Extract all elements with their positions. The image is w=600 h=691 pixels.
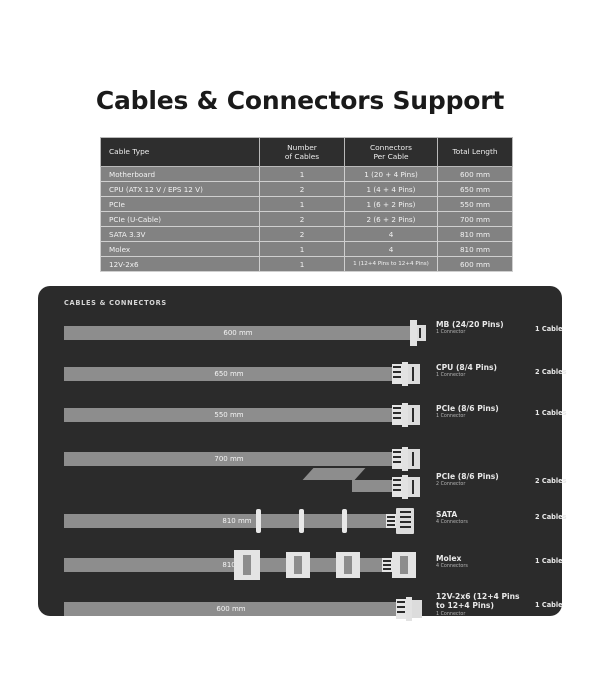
cell-total-length: 600 mm	[438, 257, 513, 272]
cables-connectors-diagram-panel: CABLES & CONNECTORS 600 mm MB (24/20 Pin…	[38, 286, 562, 616]
cell-number-of-cables: 2	[260, 212, 345, 227]
label-molex-name: Molex	[436, 554, 468, 563]
connector-molex-inline-1-slot	[243, 555, 251, 575]
connector-pcie-body	[408, 405, 420, 425]
connector-sata-end-pin-gap-3	[387, 524, 395, 526]
cable-bar-sata: 810 mm	[64, 514, 410, 528]
connector-12v2x6-pin-gap-2	[397, 606, 405, 608]
page-title: Cables & Connectors Support	[0, 0, 600, 113]
count-molex-cables: 1 Cable	[535, 557, 563, 565]
connector-sata-end-pin-gap-1	[387, 516, 395, 518]
cable-length-label: 700 mm	[64, 452, 394, 466]
label-molex: Molex 4 Connectors	[436, 554, 468, 569]
cable-length-label: 600 mm	[64, 326, 412, 340]
cell-cable-type: Motherboard	[101, 167, 260, 182]
table-header-row: Cable Type Number of Cables Connectors P…	[101, 138, 513, 167]
connector-12v2x6-pin-gap-1	[397, 601, 405, 603]
connector-cpu-pin-gap-3	[393, 376, 401, 378]
label-cpu-name: CPU (8/4 Pins)	[436, 363, 497, 372]
connector-sata-end-slot-4	[400, 526, 411, 528]
label-sata-connectors: 4 Connectors	[436, 520, 468, 525]
table-row: CPU (ATX 12 V / EPS 12 V) 2 1 (4 + 4 Pin…	[101, 182, 513, 197]
label-pcie-ucable-connectors: 2 Connector	[436, 482, 499, 487]
cell-cable-type: PCIe (U-Cable)	[101, 212, 260, 227]
connector-sata-end-slot-2	[400, 516, 411, 518]
column-header-connectors-per-cable: Connectors Per Cable	[345, 138, 438, 167]
connector-molex-end-pin-gap-1	[383, 560, 391, 562]
column-header-total-length-line1: Total Length	[452, 147, 497, 156]
connector-cpu-notch	[412, 367, 414, 381]
connector-sata-end-pin-gap-2	[387, 520, 395, 522]
connector-molex-inline-1	[234, 550, 260, 580]
cable-bar-pcie: 550 mm	[64, 408, 394, 422]
cable-length-label: 810 mm	[64, 514, 410, 528]
connector-pcie-u2-body	[408, 477, 420, 497]
cell-number-of-cables: 1	[260, 197, 345, 212]
label-cpu: CPU (8/4 Pins) 1 Connector	[436, 363, 497, 378]
column-header-number-line1: Number	[287, 143, 317, 152]
cell-number-of-cables: 1	[260, 242, 345, 257]
connector-pcie-u2-pin-gap-3	[393, 489, 401, 491]
column-header-connectors-line2: Per Cable	[373, 152, 408, 161]
connector-mb-notch	[419, 328, 421, 338]
connector-molex-inline-2-slot	[294, 556, 302, 574]
cell-total-length: 700 mm	[438, 212, 513, 227]
connector-molex-inline-3	[336, 552, 360, 578]
cable-branch-horizontal	[352, 480, 396, 492]
label-pcie-connectors: 1 Connector	[436, 414, 499, 419]
cell-total-length: 600 mm	[438, 167, 513, 182]
diagram-rows: 600 mm MB (24/20 Pins) 1 Connector 1 Cab…	[64, 312, 552, 608]
label-12v2x6-name: 12V-2x6 (12+4 Pins to 12+4 Pins)	[436, 592, 520, 611]
cell-connectors-per-cable: 1 (12+4 Pins to 12+4 Pins)	[345, 257, 438, 272]
cell-connectors-per-cable: 1 (6 + 2 Pins)	[345, 197, 438, 212]
count-12v2x6-cables: 1 Cable	[535, 601, 563, 609]
connector-pcie-notch	[412, 408, 414, 422]
cell-number-of-cables: 1	[260, 167, 345, 182]
cell-connectors-per-cable: 4	[345, 227, 438, 242]
table-row: PCIe 1 1 (6 + 2 Pins) 550 mm	[101, 197, 513, 212]
connector-sata-end-slot-3	[400, 521, 411, 523]
column-header-number-of-cables: Number of Cables	[260, 138, 345, 167]
connector-molex-end-body	[392, 552, 416, 578]
table-row: 12V-2x6 1 1 (12+4 Pins to 12+4 Pins) 600…	[101, 257, 513, 272]
label-pcie-ucable: PCIe (8/6 Pins) 2 Connector	[436, 472, 499, 487]
connector-molex-end-slot	[400, 556, 408, 574]
connector-molex-inline-2	[286, 552, 310, 578]
spec-table-container: Cable Type Number of Cables Connectors P…	[100, 137, 500, 272]
table-row: PCIe (U-Cable) 2 2 (6 + 2 Pins) 700 mm	[101, 212, 513, 227]
cell-total-length: 810 mm	[438, 242, 513, 257]
count-sata-cables: 2 Cables	[535, 513, 567, 521]
label-sata: SATA 4 Connectors	[436, 510, 468, 525]
connector-pcie-u1-pin-gap-1	[393, 451, 401, 453]
connector-pcie-pin-gap-2	[393, 412, 401, 414]
table-row: Motherboard 1 1 (20 + 4 Pins) 600 mm	[101, 167, 513, 182]
column-header-total-length: Total Length	[438, 138, 513, 167]
label-sata-name: SATA	[436, 510, 468, 519]
connector-12v2x6-pin-gap-3	[397, 611, 405, 613]
cell-cable-type: CPU (ATX 12 V / EPS 12 V)	[101, 182, 260, 197]
connector-pcie-u1-pin-gap-3	[393, 461, 401, 463]
cell-cable-type: Molex	[101, 242, 260, 257]
cable-length-label: 550 mm	[64, 408, 394, 422]
count-motherboard-cables: 1 Cable	[535, 325, 563, 333]
label-pcie-ucable-name: PCIe (8/6 Pins)	[436, 472, 499, 481]
cell-cable-type: 12V-2x6	[101, 257, 260, 272]
cable-branch-diagonal	[303, 468, 366, 480]
connector-molex-end-pin-gap-2	[383, 564, 391, 566]
connector-pcie-u1-body	[408, 449, 420, 469]
cell-connectors-per-cable: 2 (6 + 2 Pins)	[345, 212, 438, 227]
cell-number-of-cables: 1	[260, 257, 345, 272]
cable-bar-motherboard: 600 mm	[64, 326, 412, 340]
connector-sata-inline-1	[256, 509, 261, 533]
cell-total-length: 550 mm	[438, 197, 513, 212]
table-row: SATA 3.3V 2 4 810 mm	[101, 227, 513, 242]
cable-length-label: 600 mm	[64, 602, 398, 616]
label-pcie: PCIe (8/6 Pins) 1 Connector	[436, 404, 499, 419]
cell-connectors-per-cable: 4	[345, 242, 438, 257]
connector-cpu-pin-gap-2	[393, 371, 401, 373]
connector-sata-end-slot-1	[400, 511, 411, 513]
count-pcie-cables: 1 Cables	[535, 409, 567, 417]
cell-total-length: 650 mm	[438, 182, 513, 197]
connector-pcie-u2-notch	[412, 480, 414, 494]
label-motherboard-connectors: 1 Connector	[436, 330, 504, 335]
column-header-connectors-line1: Connectors	[370, 143, 412, 152]
connector-cpu-body	[408, 364, 420, 384]
connector-molex-end-pin-gap-3	[383, 568, 391, 570]
cable-bar-cpu: 650 mm	[64, 367, 394, 381]
count-cpu-cables: 2 Cables	[535, 368, 567, 376]
label-molex-connectors: 4 Connectors	[436, 564, 468, 569]
count-pcie-ucable-cables: 2 Cables	[535, 477, 567, 485]
column-header-number-line2: of Cables	[285, 152, 319, 161]
label-motherboard: MB (24/20 Pins) 1 Connector	[436, 320, 504, 335]
cell-number-of-cables: 2	[260, 182, 345, 197]
connector-pcie-pin-gap-3	[393, 417, 401, 419]
label-12v2x6-connectors: 1 Connector	[436, 612, 520, 617]
cable-bar-12v2x6: 600 mm	[64, 602, 398, 616]
cell-connectors-per-cable: 1 (20 + 4 Pins)	[345, 167, 438, 182]
table-row: Molex 1 4 810 mm	[101, 242, 513, 257]
label-motherboard-name: MB (24/20 Pins)	[436, 320, 504, 329]
label-12v2x6: 12V-2x6 (12+4 Pins to 12+4 Pins) 1 Conne…	[436, 592, 520, 617]
cables-spec-table: Cable Type Number of Cables Connectors P…	[100, 137, 513, 272]
connector-sata-inline-3	[342, 509, 347, 533]
column-header-cable-type: Cable Type	[101, 138, 260, 167]
connector-pcie-u2-pin-gap-2	[393, 484, 401, 486]
connector-pcie-pin-gap-1	[393, 407, 401, 409]
label-pcie-name: PCIe (8/6 Pins)	[436, 404, 499, 413]
diagram-panel-title: CABLES & CONNECTORS	[64, 299, 167, 307]
cell-connectors-per-cable: 1 (4 + 4 Pins)	[345, 182, 438, 197]
connector-molex-inline-3-slot	[344, 556, 352, 574]
connector-12v2x6-body	[412, 600, 422, 618]
column-header-cable-type-line1: Cable Type	[109, 147, 149, 156]
connector-sata-inline-2	[299, 509, 304, 533]
cell-total-length: 810 mm	[438, 227, 513, 242]
cell-number-of-cables: 2	[260, 227, 345, 242]
cell-cable-type: SATA 3.3V	[101, 227, 260, 242]
connector-pcie-u2-pin-gap-1	[393, 479, 401, 481]
connector-pcie-u1-pin-gap-2	[393, 456, 401, 458]
cable-length-label: 650 mm	[64, 367, 394, 381]
cell-cable-type: PCIe	[101, 197, 260, 212]
connector-mb-pins	[410, 320, 417, 346]
cable-bar-pcie-ucable: 700 mm	[64, 452, 394, 466]
label-cpu-connectors: 1 Connector	[436, 373, 497, 378]
connector-cpu-pin-gap-1	[393, 366, 401, 368]
connector-pcie-u1-notch	[412, 452, 414, 466]
